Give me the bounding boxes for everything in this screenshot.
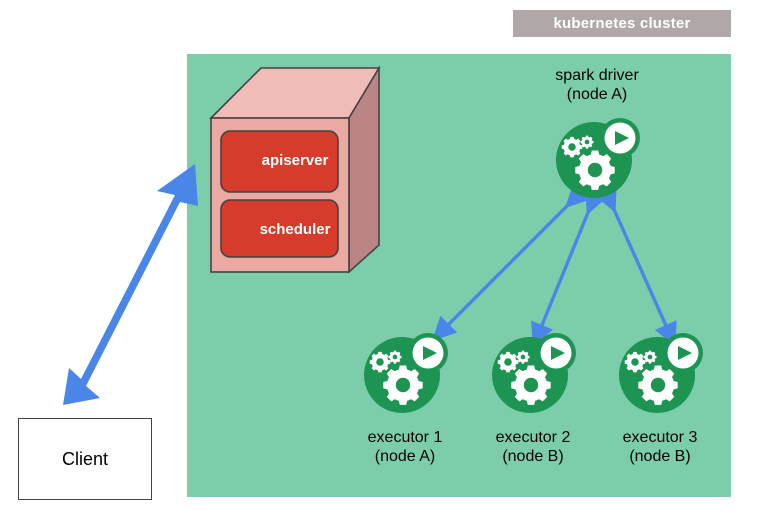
- executor-1-node: (node A): [335, 447, 475, 466]
- executor-3-node-icon[interactable]: [617, 330, 703, 416]
- executor-3-name: executor 3: [590, 428, 730, 447]
- control-plane-cube: apiserver scheduler: [200, 65, 390, 285]
- executor-1-name: executor 1: [335, 428, 475, 447]
- executor-3-node: (node B): [590, 447, 730, 466]
- executor-2-caption: executor 2 (node B): [463, 428, 603, 466]
- spark-driver-name: spark driver: [527, 66, 667, 85]
- client-box[interactable]: Client: [18, 418, 152, 500]
- executor-2-name: executor 2: [463, 428, 603, 447]
- executor-2-node-icon[interactable]: [490, 330, 576, 416]
- executor-2-node: (node B): [463, 447, 603, 466]
- executor-3-caption: executor 3 (node B): [590, 428, 730, 466]
- spark-driver-node: (node A): [527, 85, 667, 104]
- executor-1-caption: executor 1 (node A): [335, 428, 475, 466]
- executor-1-node-icon[interactable]: [362, 330, 448, 416]
- client-label: Client: [62, 449, 108, 470]
- diagram-canvas: kubernetes cluster Client spark-submit a…: [0, 0, 761, 516]
- spark-submit-arrow: spark-submit: [55, 160, 215, 410]
- kubernetes-cluster-label: kubernetes cluster: [513, 10, 731, 37]
- spark-driver-node-icon[interactable]: [554, 115, 640, 201]
- spark-driver-caption: spark driver (node A): [527, 66, 667, 104]
